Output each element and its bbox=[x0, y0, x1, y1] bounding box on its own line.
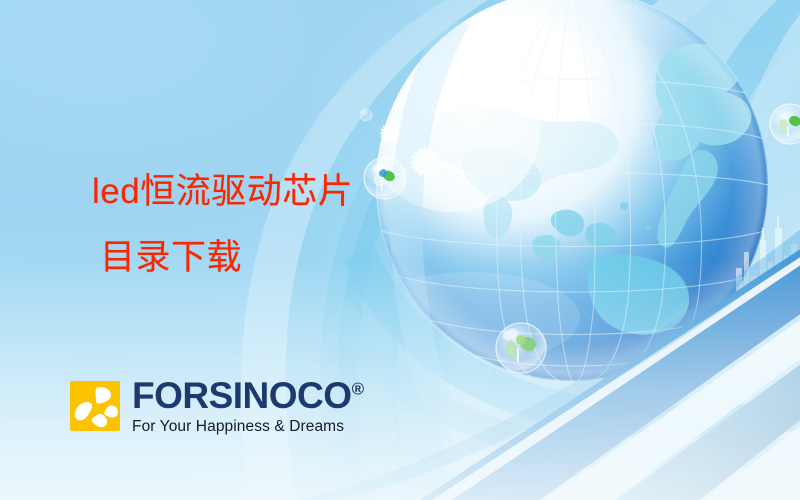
bottom-light-fade bbox=[0, 260, 800, 500]
bubble-tiny bbox=[360, 109, 372, 121]
snowflake-small bbox=[380, 123, 400, 143]
bubble-left bbox=[364, 157, 406, 199]
logo-company-name: FORSINOCO® bbox=[132, 379, 364, 413]
headline-line-1: led恒流驱动芯片 bbox=[92, 174, 353, 209]
forsinoco-pinwheel-mark bbox=[70, 381, 120, 431]
logo-tagline: For Your Happiness & Dreams bbox=[132, 419, 364, 435]
registered-trademark-icon: ® bbox=[352, 380, 364, 399]
snowflake-large bbox=[410, 147, 440, 177]
headline-line-2: 目录下载 bbox=[100, 240, 242, 275]
logo-company-name-text: FORSINOCO bbox=[132, 375, 352, 416]
company-logo: FORSINOCO® For Your Happiness & Dreams bbox=[70, 381, 364, 435]
slide-canvas: led恒流驱动芯片 目录下载 FORSINOCO® For Your Happi… bbox=[0, 0, 800, 500]
logo-wordmark: FORSINOCO® For Your Happiness & Dreams bbox=[132, 381, 364, 435]
pinwheel-icon bbox=[70, 381, 120, 431]
